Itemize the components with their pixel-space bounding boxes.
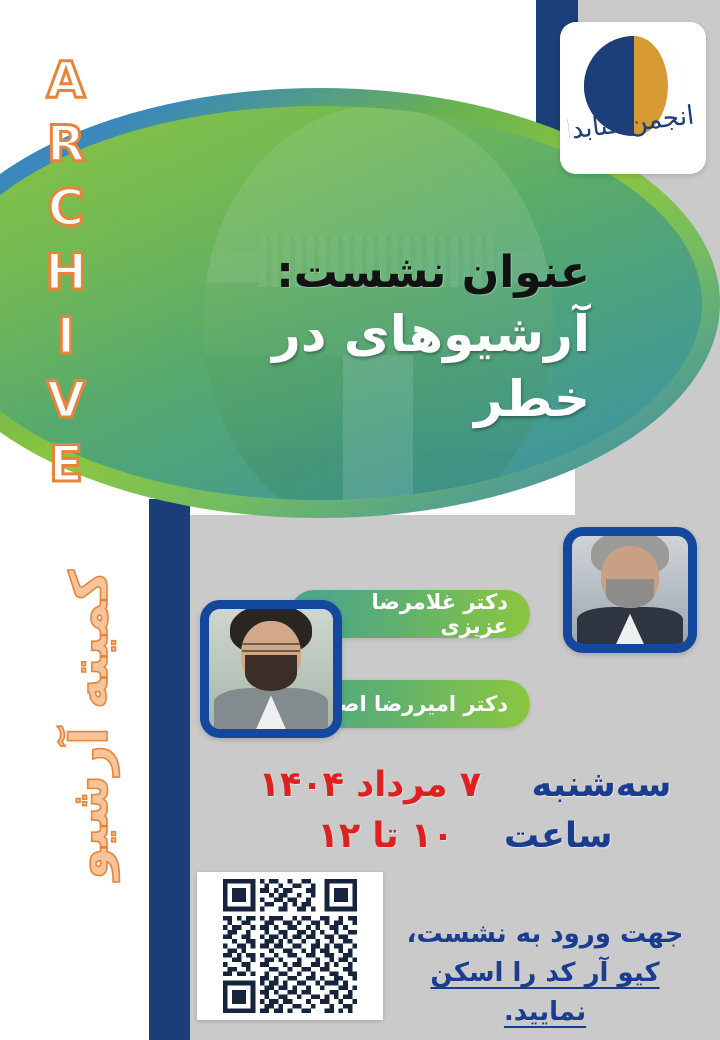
event-time-label: ساعت <box>504 816 613 856</box>
archive-letter-h: H <box>45 240 87 304</box>
committee-label: کمیته آرشیو <box>60 570 120 870</box>
eyeglasses-icon <box>242 643 299 653</box>
speaker-photo-frame-1 <box>563 527 697 653</box>
title-main: آرشیوهای در خطر <box>170 302 590 432</box>
event-date-value: ۷ مرداد ۱۴۰۴ <box>259 765 482 805</box>
event-date-label: سه‌شنبه <box>532 765 672 805</box>
archive-letter-r: R <box>47 112 86 176</box>
archive-letter-i: I <box>57 304 76 368</box>
archive-wordmark: A R C H I V E <box>34 48 98 496</box>
speaker-photo-frame-2 <box>200 600 342 738</box>
event-datetime: سه‌شنبه ۷ مرداد ۱۴۰۴ ساعت ۱۰ تا ۱۲ <box>230 760 700 862</box>
archive-letter-c: C <box>48 176 85 240</box>
qr-code-card[interactable] <box>197 872 383 1020</box>
speaker-portrait-1 <box>572 536 688 644</box>
qr-instruction-line-2: کیو آر کد را اسکن نمایید. <box>395 954 695 1032</box>
qr-instruction: جهت ورود به نشست، کیو آر کد را اسکن نمای… <box>395 915 695 1032</box>
event-poster: A R C H I V E کمیته آرشیو انجمن کتابداری… <box>0 0 720 1040</box>
archive-letter-v: V <box>47 368 86 432</box>
event-time-value: ۱۰ تا ۱۲ <box>317 816 453 856</box>
archive-letter-a: A <box>47 48 86 112</box>
qr-instruction-line-1: جهت ورود به نشست، <box>395 915 695 954</box>
event-date-row: سه‌شنبه ۷ مرداد ۱۴۰۴ <box>230 760 700 811</box>
title-prefix: عنوان نشست: <box>170 245 590 300</box>
archive-letter-e: E <box>49 432 83 496</box>
speaker-portrait-2 <box>209 609 333 729</box>
organization-logo: انجمن کتابداری و اطلاع‌رسانی ایران <box>560 22 706 174</box>
navy-divider-bar <box>149 499 190 1040</box>
poster-title: عنوان نشست: آرشیوهای در خطر <box>170 245 590 432</box>
qr-code-icon[interactable] <box>204 879 376 1013</box>
event-time-row: ساعت ۱۰ تا ۱۲ <box>230 811 700 862</box>
